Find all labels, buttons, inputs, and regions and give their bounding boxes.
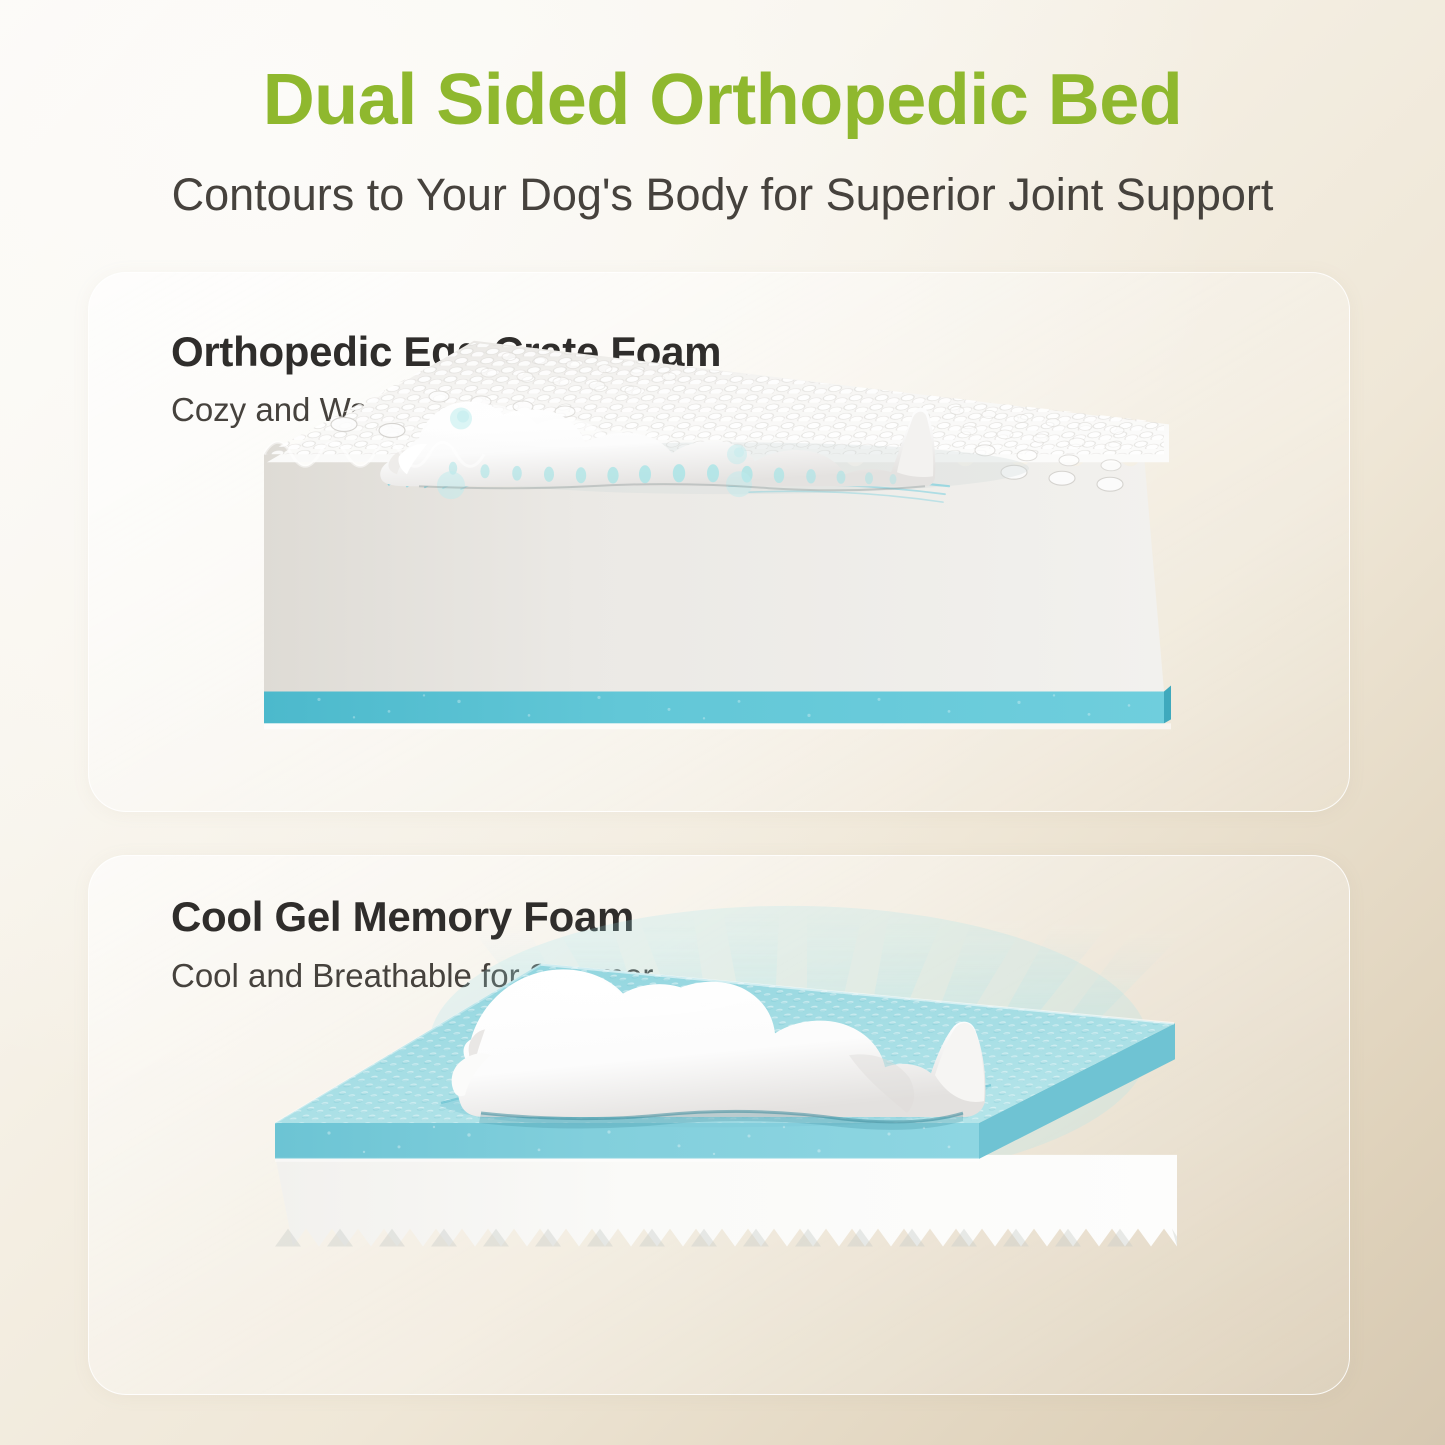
egg-crate-foam-with-dog-illustration <box>89 273 1350 811</box>
cool-gel-memory-foam-with-dog-illustration <box>89 856 1350 1394</box>
page-title: Dual Sided Orthopedic Bed <box>0 0 1445 136</box>
page-subtitle: Contours to Your Dog's Body for Superior… <box>0 136 1445 217</box>
header: Dual Sided Orthopedic Bed Contours to Yo… <box>0 0 1445 217</box>
card-cool-gel-memory-foam: Cool Gel Memory Foam Cool and Breathable… <box>88 855 1350 1395</box>
card-egg-crate-foam: Orthopedic Egg Crate Foam Cozy and Warm … <box>88 272 1350 812</box>
